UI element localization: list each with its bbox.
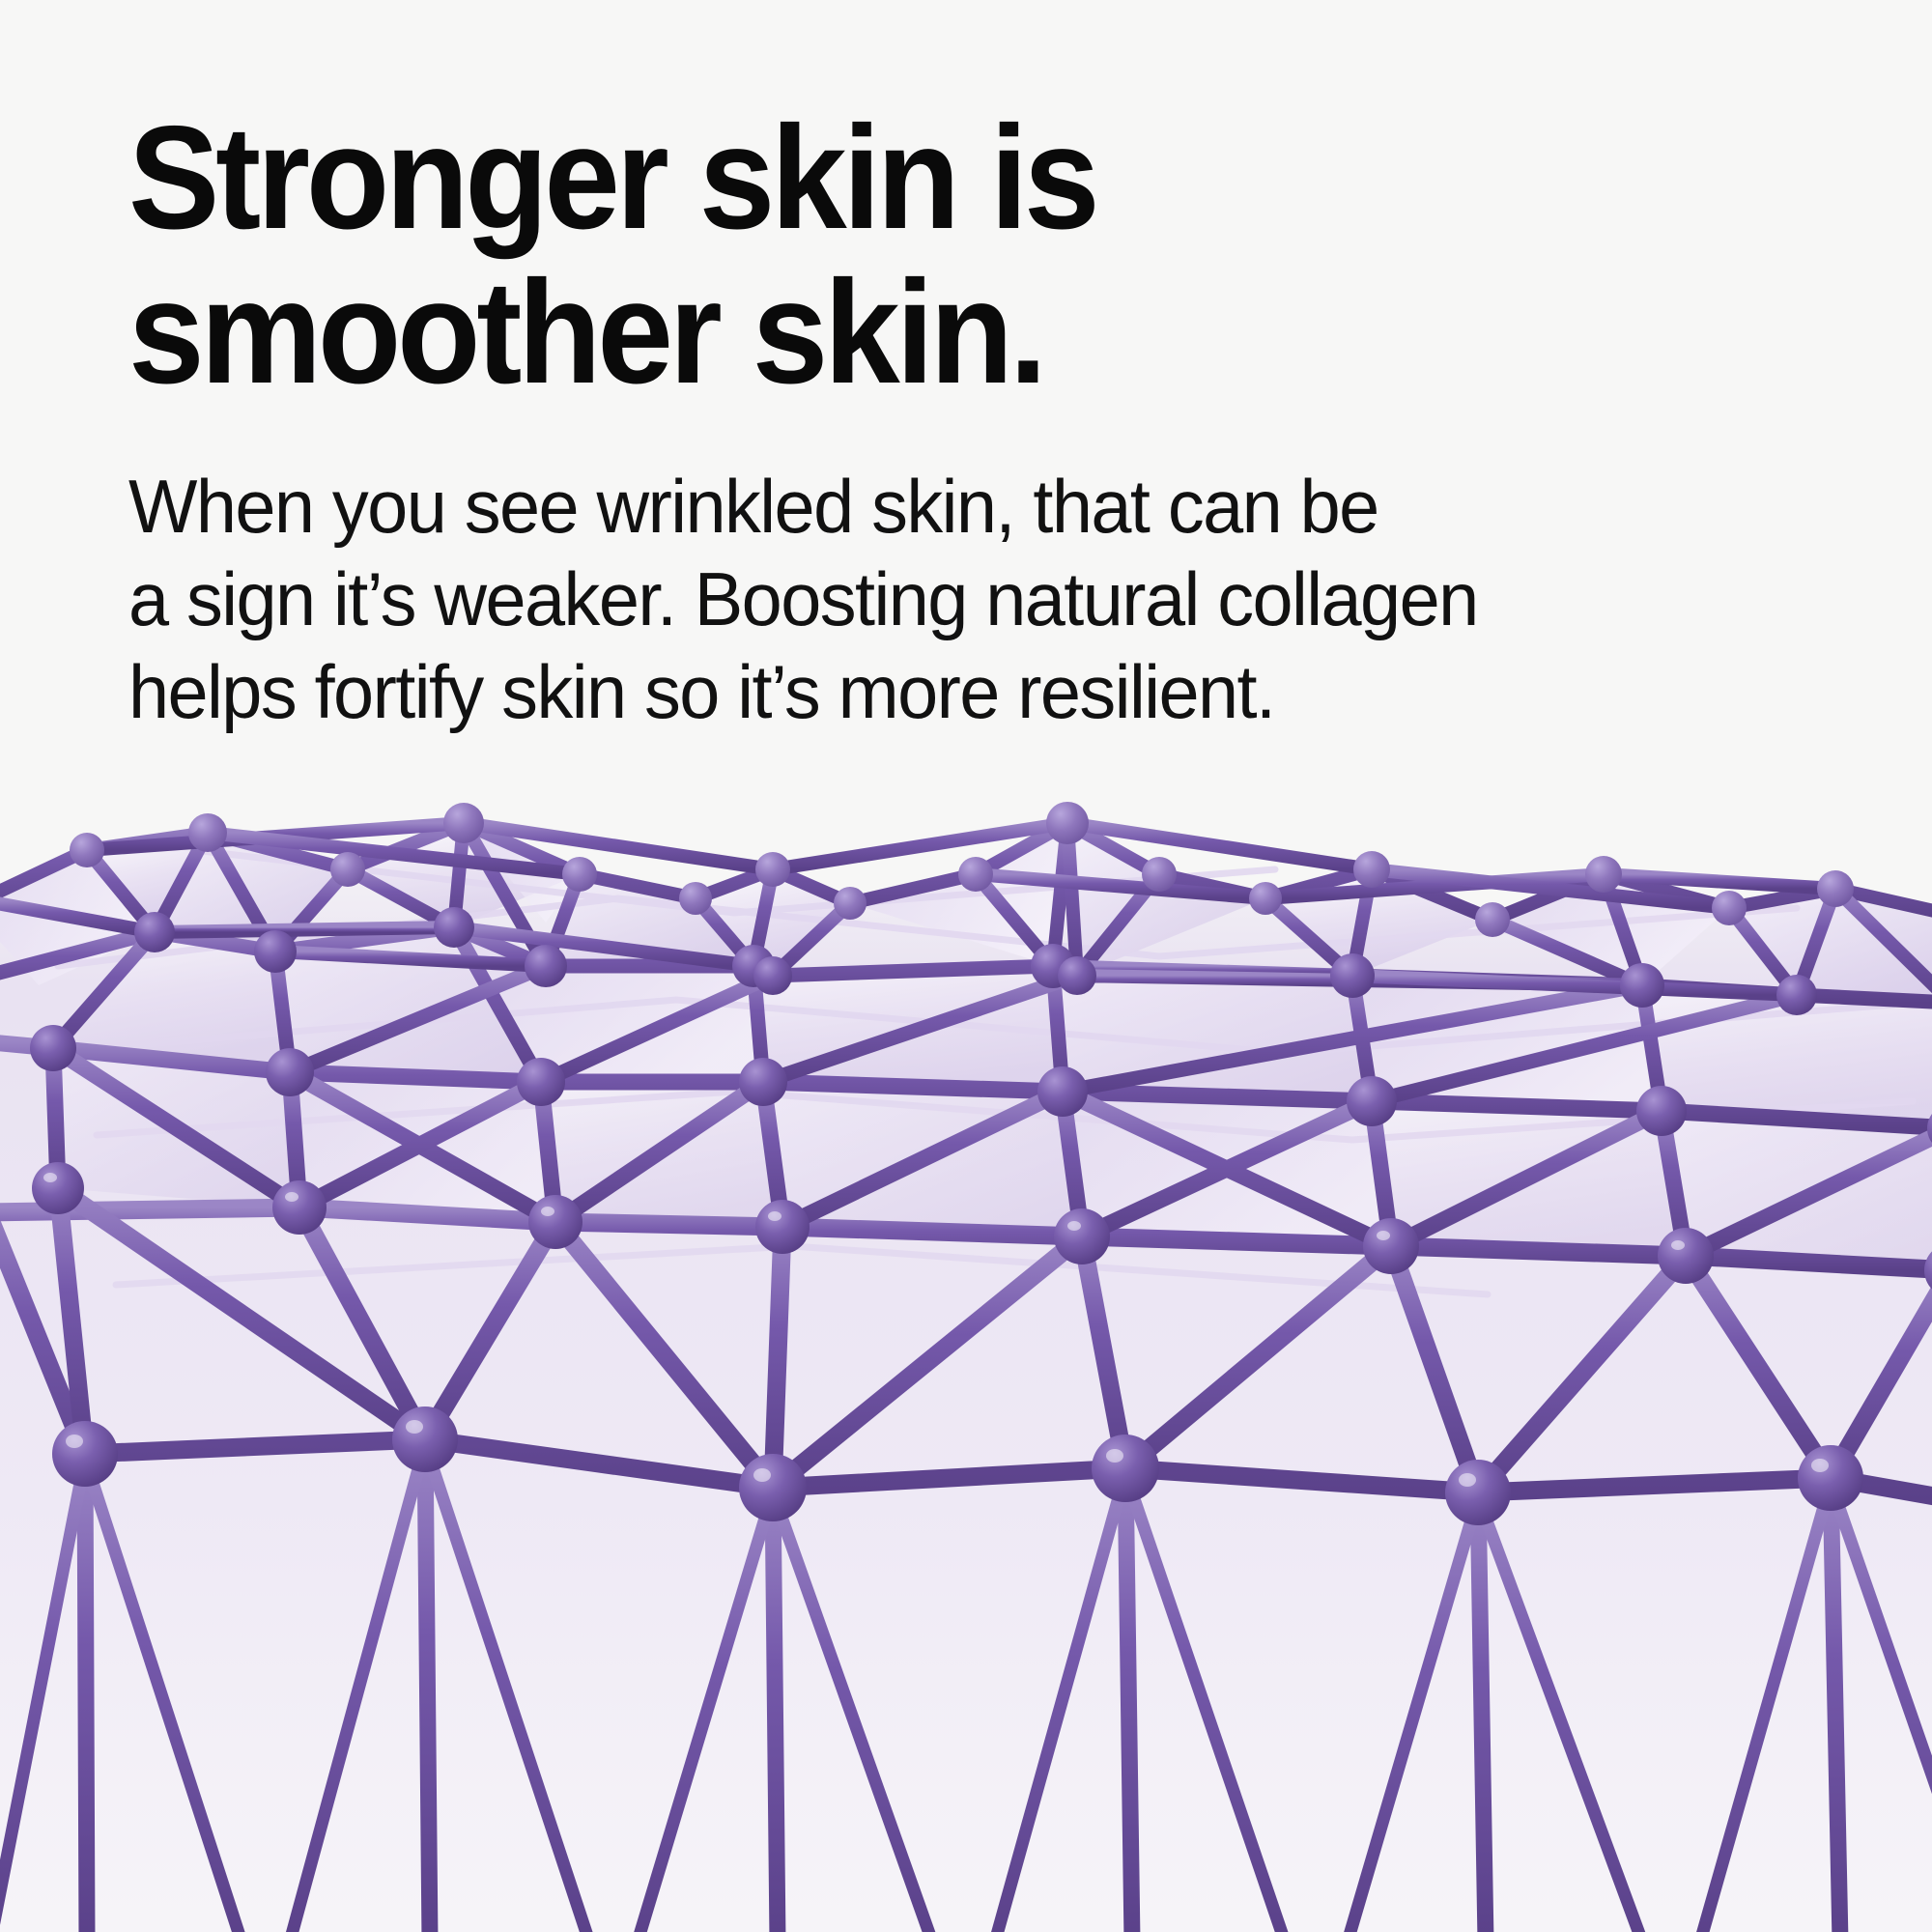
ad-card: Stronger skin is smoother skin. When you… [0,0,1932,1932]
copy-block: Stronger skin is smoother skin. When you… [128,100,1829,738]
body-copy: When you see wrinkled skin, that can be … [128,460,1777,738]
page-title: Stronger skin is smoother skin. [128,100,1710,410]
